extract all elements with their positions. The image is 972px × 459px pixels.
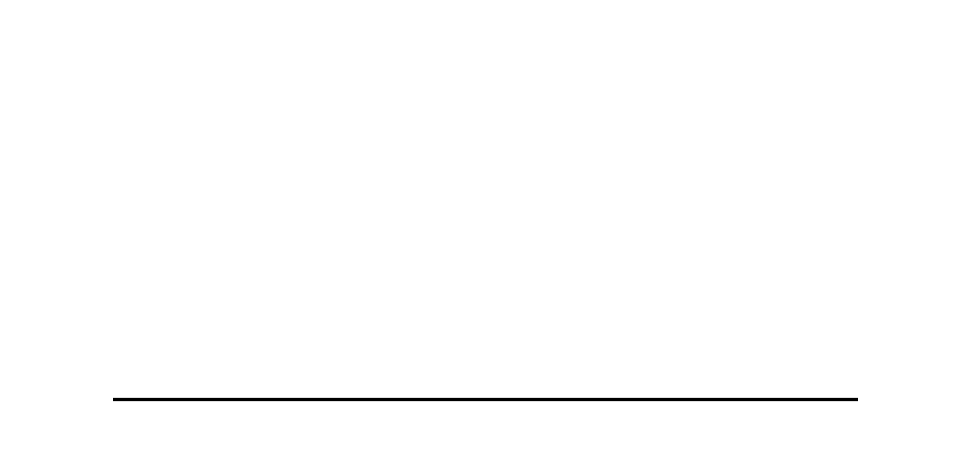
- edx-spectrum-figure: [0, 40, 972, 459]
- spectrum-plot: [0, 40, 972, 459]
